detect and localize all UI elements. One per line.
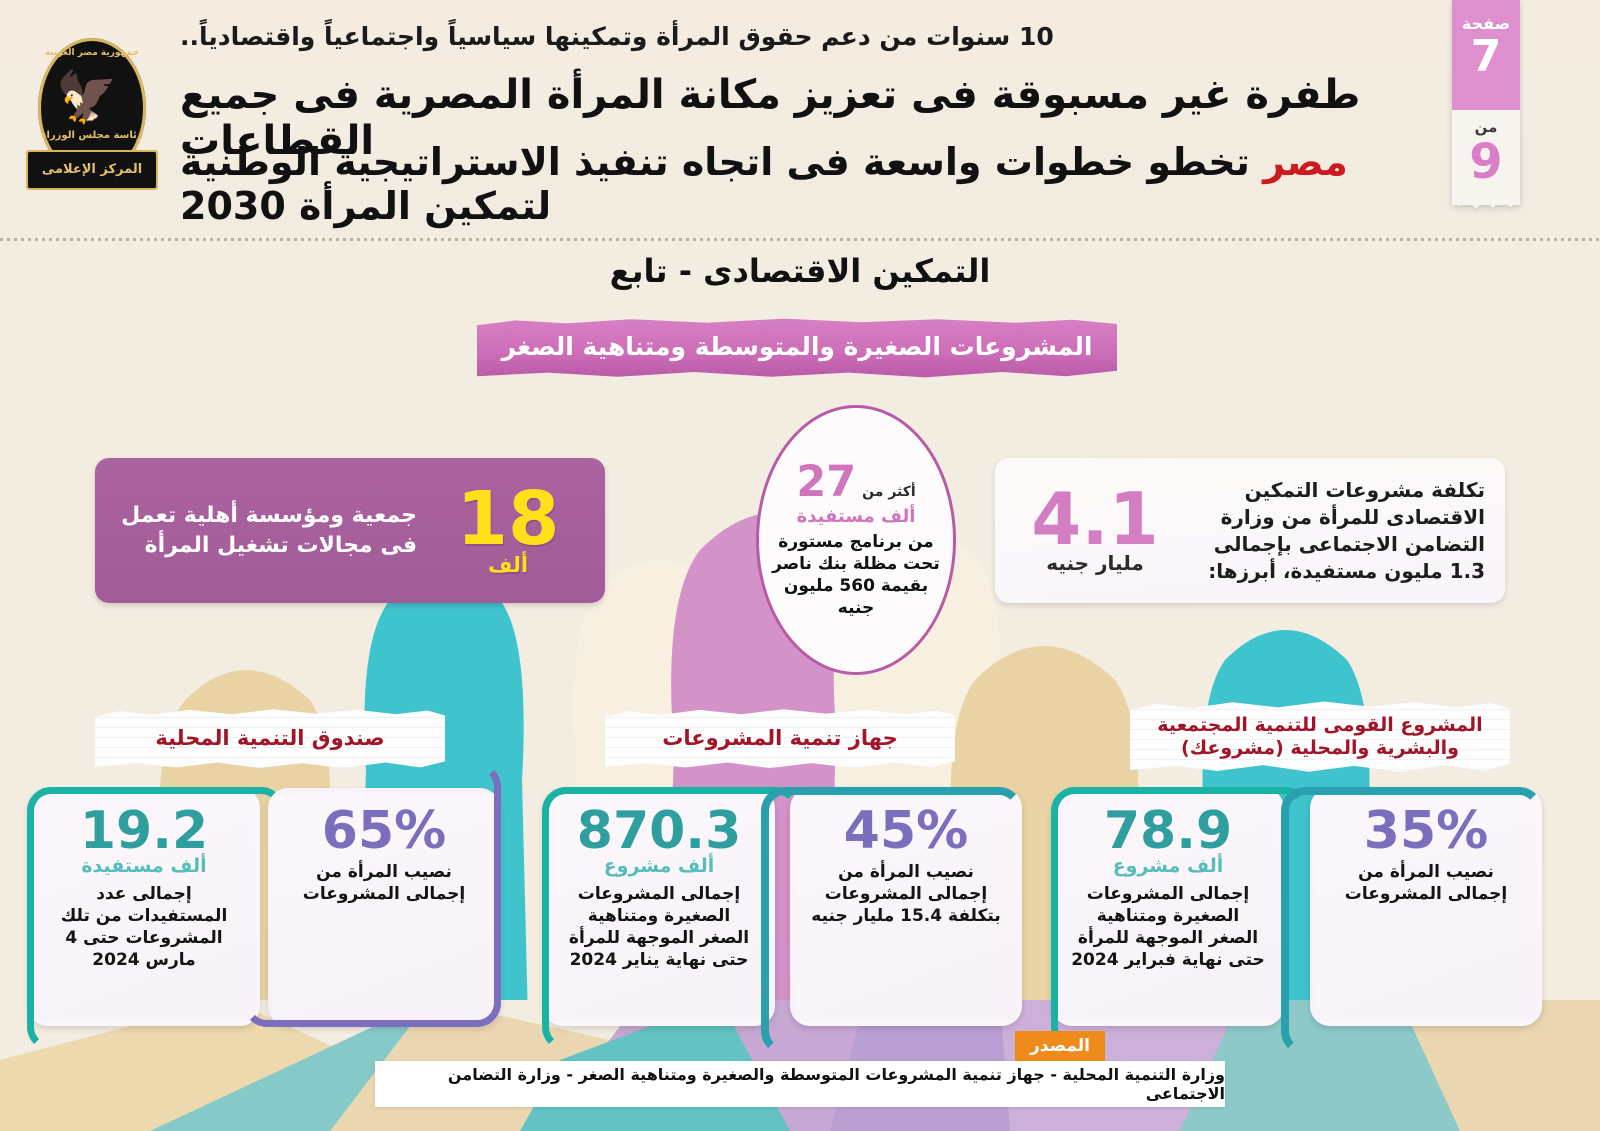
group-title-2: المشروع القومى للتنمية المجتمعية والبشري… bbox=[1130, 714, 1510, 760]
page-number: 7 bbox=[1452, 33, 1520, 81]
stat-card-projects-78-9: 78.9 ألف مشروع إجمالى المشروعات الصغيرة … bbox=[1052, 788, 1284, 1026]
mastoura-prefix: أكثر من bbox=[862, 484, 916, 500]
stat-card-share-65: 65% نصيب المرأة من إجمالى المشروعات bbox=[268, 788, 500, 1026]
infographic-page: جمهورية مصر العربية 🦅 رئاسة مجلس الوزراء… bbox=[0, 0, 1600, 1131]
page-of-label: من bbox=[1452, 110, 1520, 136]
page-badge: صفحة 7 من 9 bbox=[1452, 0, 1520, 210]
empowerment-cost-number: 4.1 bbox=[1031, 477, 1159, 561]
stat-card-share-35: 35% نصيب المرأة من إجمالى المشروعات bbox=[1310, 788, 1542, 1026]
mastoura-value: 27 bbox=[796, 461, 856, 504]
empowerment-cost-desc: تكلفة مشروعات التمكين الاقتصادى للمرأة م… bbox=[1175, 477, 1485, 585]
logo-band-text: المركز الإعلامى bbox=[26, 150, 158, 190]
pink-banner-label: المشروعات الصغيرة والمتوسطة ومتناهية الص… bbox=[477, 332, 1117, 361]
group-header-msme-agency: جهاز تنمية المشروعات bbox=[605, 708, 955, 770]
page-badge-top: صفحة 7 bbox=[1452, 0, 1520, 110]
page-badge-bottom: من 9 bbox=[1452, 110, 1520, 205]
stat-unit-2: ألف مشروع bbox=[604, 855, 715, 877]
government-logo: جمهورية مصر العربية 🦅 رئاسة مجلس الوزراء… bbox=[20, 38, 165, 203]
stat-value-2: 870.3 bbox=[577, 805, 741, 857]
stat-value-0: 19.2 bbox=[80, 805, 208, 857]
mastoura-desc: من برنامج مستورة تحت مظلة بنك ناصر بقيمة… bbox=[769, 531, 943, 619]
page-badge-tear bbox=[1452, 198, 1520, 212]
stat-value-5: 35% bbox=[1364, 805, 1488, 857]
group-header-mashrouak: المشروع القومى للتنمية المجتمعية والبشري… bbox=[1130, 700, 1510, 774]
page-label: صفحة bbox=[1452, 0, 1520, 33]
header-line2-rest: تخطو خطوات واسعة فى اتجاه تنفيذ الاسترات… bbox=[180, 140, 1263, 228]
stat-desc-1: نصيب المرأة من إجمالى المشروعات bbox=[287, 861, 481, 905]
ngo-count-unit: ألف bbox=[433, 556, 583, 574]
logo-top-text: جمهورية مصر العربية bbox=[40, 48, 144, 58]
logo-mid-text: رئاسة مجلس الوزراء bbox=[40, 130, 144, 141]
ngo-count-number: 18 bbox=[457, 476, 560, 562]
card-ngo-count: 18 ألف جمعية ومؤسسة أهلية تعمل فى مجالات… bbox=[95, 458, 605, 603]
stat-desc-0: إجمالى عدد المستفيدات من تلك المشروعات ح… bbox=[47, 883, 241, 971]
header-highlight-word: مصر bbox=[1263, 140, 1348, 184]
source-tab: المصدر bbox=[1015, 1031, 1105, 1061]
source-bar: وزارة التنمية المحلية - جهاز تنمية المشر… bbox=[375, 1061, 1225, 1107]
card-mastoura-circle: أكثر من 27 ألف مستفيدة من برنامج مستورة … bbox=[756, 405, 956, 675]
stat-value-4: 78.9 bbox=[1104, 805, 1232, 857]
stat-desc-2: إجمالى المشروعات الصغيرة ومتناهية الصغر … bbox=[562, 883, 756, 971]
ngo-count-value: 18 ألف bbox=[433, 487, 583, 575]
stat-card-share-45: 45% نصيب المرأة من إجمالى المشروعات بتكل… bbox=[790, 788, 1022, 1026]
group-title-1: جهاز تنمية المشروعات bbox=[662, 726, 897, 751]
mastoura-value-row: أكثر من 27 bbox=[796, 461, 915, 504]
stat-desc-4: إجمالى المشروعات الصغيرة ومتناهية الصغر … bbox=[1071, 883, 1265, 971]
page-header: جمهورية مصر العربية 🦅 رئاسة مجلس الوزراء… bbox=[0, 0, 1600, 240]
stat-card-beneficiaries-19-2: 19.2 ألف مستفيدة إجمالى عدد المستفيدات م… bbox=[28, 788, 260, 1026]
group-header-local-development-fund: صندوق التنمية المحلية bbox=[95, 708, 445, 770]
stat-value-1: 65% bbox=[322, 805, 446, 857]
stat-card-projects-870-3: 870.3 ألف مشروع إجمالى المشروعات الصغيرة… bbox=[543, 788, 775, 1026]
header-divider bbox=[0, 238, 1600, 241]
ngo-count-desc: جمعية ومؤسسة أهلية تعمل فى مجالات تشغيل … bbox=[117, 501, 433, 559]
header-title-line2: مصر تخطو خطوات واسعة فى اتجاه تنفيذ الاس… bbox=[180, 140, 1410, 228]
page-total: 9 bbox=[1452, 136, 1520, 188]
stat-desc-5: نصيب المرأة من إجمالى المشروعات bbox=[1329, 861, 1523, 905]
eagle-icon: 🦅 bbox=[66, 66, 118, 128]
source-text: وزارة التنمية المحلية - جهاز تنمية المشر… bbox=[375, 1065, 1225, 1103]
stat-value-3: 45% bbox=[844, 805, 968, 857]
stat-unit-0: ألف مستفيدة bbox=[81, 855, 206, 877]
card-empowerment-cost: تكلفة مشروعات التمكين الاقتصادى للمرأة م… bbox=[995, 458, 1505, 603]
header-kicker: 10 سنوات من دعم حقوق المرأة وتمكينها سيا… bbox=[180, 22, 1410, 51]
logo-band: المركز الإعلامى bbox=[26, 150, 158, 190]
section-title: التمكين الاقتصادى - تابع bbox=[0, 252, 1600, 290]
stat-unit-4: ألف مشروع bbox=[1113, 855, 1224, 877]
empowerment-cost-value: 4.1 مليار جنيه bbox=[1015, 488, 1175, 573]
mastoura-unit: ألف مستفيدة bbox=[797, 506, 916, 527]
group-title-0: صندوق التنمية المحلية bbox=[155, 726, 384, 751]
stat-desc-3: نصيب المرأة من إجمالى المشروعات بتكلفة 1… bbox=[809, 861, 1003, 927]
